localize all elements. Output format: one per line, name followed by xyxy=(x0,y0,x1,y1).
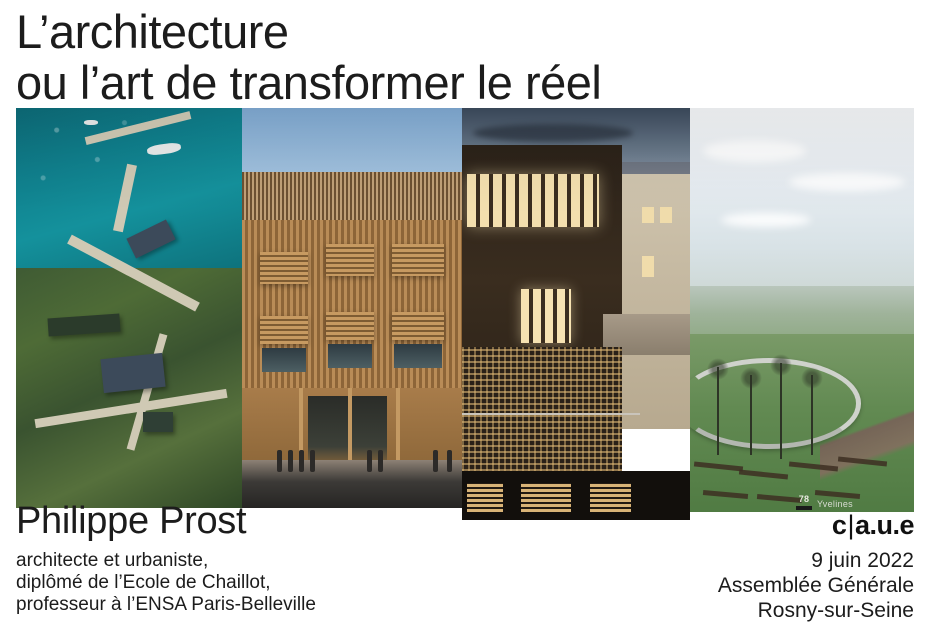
caue-letters-aue: a.u.e xyxy=(855,510,914,540)
lit-glazing-lower xyxy=(521,289,571,343)
pedestrian xyxy=(367,450,372,472)
window xyxy=(262,348,306,372)
pavement xyxy=(242,460,462,508)
speaker-role-line-1: architecte et urbaniste, xyxy=(16,550,316,572)
handrail xyxy=(462,413,640,415)
tree-crown xyxy=(707,358,729,380)
facade-mullion xyxy=(348,388,352,468)
tree xyxy=(780,363,782,460)
image-panel-wooden-facade xyxy=(242,108,462,508)
image-panel-landscape-memorial xyxy=(690,108,914,512)
pedestrian xyxy=(447,450,452,472)
facade-top-screen xyxy=(242,172,462,220)
speaker-role: architecte et urbaniste, diplômé de l’Ec… xyxy=(16,550,316,616)
poster-canvas: L’architecture ou l’art de transformer l… xyxy=(0,0,930,629)
lit-glazing-upper xyxy=(467,174,599,228)
title-line-1: L’architecture xyxy=(16,8,601,55)
pedestrian xyxy=(299,450,304,472)
event-details: 9 juin 2022 Assemblée Générale Rosny-sur… xyxy=(718,548,914,623)
department-number: 78 xyxy=(799,495,810,504)
window xyxy=(642,256,653,277)
department-region-label: Yvelines xyxy=(817,499,853,510)
speaker-role-line-3: professeur à l’ENSA Paris-Belleville xyxy=(16,594,316,616)
cloud xyxy=(721,213,811,227)
department-bar-icon xyxy=(796,506,812,510)
caue-logo: 78 Yvelines c|a.u.e xyxy=(794,488,914,539)
tree-crown xyxy=(740,367,762,389)
window-shutter xyxy=(260,252,308,284)
speaker-role-line-2: diplômé de l’Ecole de Chaillot, xyxy=(16,572,316,594)
department-mark: 78 xyxy=(796,495,812,510)
caue-wordmark: c|a.u.e xyxy=(794,512,914,539)
building-roof xyxy=(100,353,165,393)
event-date: 9 juin 2022 xyxy=(718,548,914,573)
boat xyxy=(84,120,98,125)
window-shutter xyxy=(326,312,374,340)
title-line-2: ou l’art de transformer le réel xyxy=(16,59,601,106)
image-panel-aerial-citadel xyxy=(16,108,242,508)
pedestrian xyxy=(277,450,282,472)
tree-crown xyxy=(770,354,792,376)
window-shutter xyxy=(260,316,308,344)
window-shutter xyxy=(392,244,445,276)
window xyxy=(660,207,671,223)
caue-separator: | xyxy=(846,510,855,540)
page-title: L’architecture ou l’art de transformer l… xyxy=(16,8,601,106)
caue-letter-c: c xyxy=(832,510,847,540)
tree-crown xyxy=(801,367,823,389)
event-place: Rosny-sur-Seine xyxy=(718,598,914,623)
image-panel-dark-metal-building xyxy=(462,108,690,520)
pedestrian xyxy=(310,450,315,472)
window-shutter xyxy=(392,312,445,340)
pedestrian xyxy=(433,450,438,472)
facade-mullion xyxy=(396,388,400,468)
window xyxy=(328,344,372,368)
window xyxy=(394,344,442,368)
window-shutter xyxy=(326,244,374,276)
speaker-name: Philippe Prost xyxy=(16,500,246,543)
sky-area xyxy=(690,108,914,302)
lit-floor-grille xyxy=(521,483,571,512)
cloud xyxy=(789,173,905,191)
lit-floor-grille xyxy=(467,483,503,512)
caue-logo-department: 78 Yvelines xyxy=(794,488,914,510)
pedestrian xyxy=(378,450,383,472)
event-name: Assemblée Générale xyxy=(718,573,914,598)
image-strip xyxy=(16,108,914,520)
lit-floor-grille xyxy=(590,483,631,512)
window xyxy=(642,207,653,223)
pedestrian xyxy=(288,450,293,472)
building-roof xyxy=(143,412,173,432)
perforated-metal-screen xyxy=(462,347,622,471)
